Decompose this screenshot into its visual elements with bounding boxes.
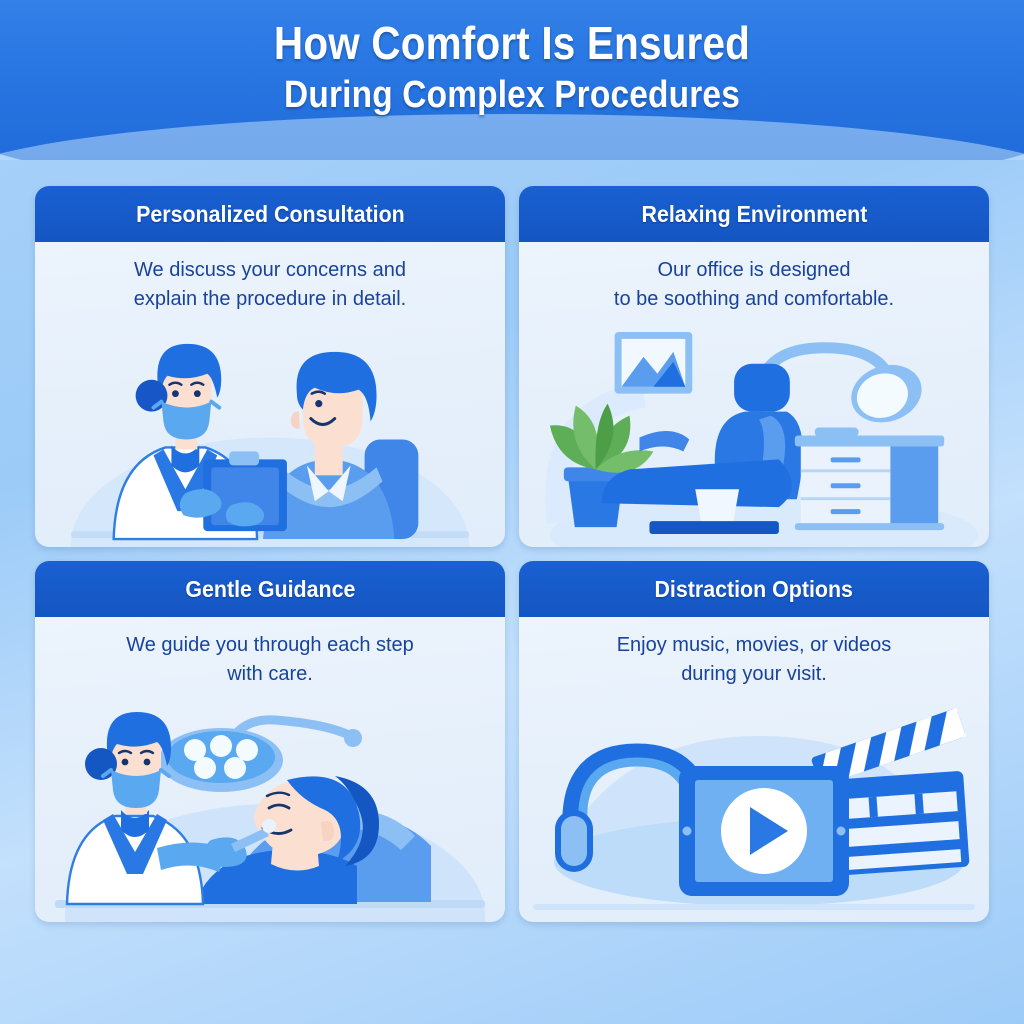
card-header-bar: Gentle Guidance: [35, 561, 505, 617]
card-description-line-2: explain the procedure in detail.: [53, 285, 487, 314]
card-description-line-2: with care.: [53, 660, 487, 689]
card-personalized-consultation[interactable]: Personalized Consultation We discuss you…: [35, 186, 505, 547]
card-header-bar: Personalized Consultation: [35, 186, 505, 242]
card-description-line-2: during your visit.: [537, 660, 971, 689]
card-distraction-options[interactable]: Distraction Options Enjoy music, movies,…: [519, 561, 989, 922]
card-description-line-1: We guide you through each step: [53, 631, 487, 660]
card-description: Enjoy music, movies, or videos during yo…: [519, 617, 989, 693]
gentle-treatment-illustration: [35, 693, 505, 922]
card-description-line-1: Our office is designed: [537, 256, 971, 285]
card-gentle-guidance[interactable]: Gentle Guidance We guide you through eac…: [35, 561, 505, 922]
card-title: Personalized Consultation: [136, 201, 405, 228]
entertainment-illustration: [519, 693, 989, 922]
title-line-primary: How Comfort Is Ensured: [61, 16, 962, 70]
page-title: How Comfort Is Ensured During Complex Pr…: [0, 16, 1024, 120]
card-header-bar: Relaxing Environment: [519, 186, 989, 242]
card-title: Gentle Guidance: [185, 576, 355, 603]
feature-card-grid: Personalized Consultation We discuss you…: [35, 186, 989, 922]
card-description: We guide you through each step with care…: [35, 617, 505, 693]
card-title: Relaxing Environment: [641, 201, 867, 228]
card-description-line-1: We discuss your concerns and: [53, 256, 487, 285]
card-description-line-1: Enjoy music, movies, or videos: [537, 631, 971, 660]
title-line-secondary: During Complex Procedures: [61, 70, 962, 120]
card-title: Distraction Options: [655, 576, 853, 603]
card-description: Our office is designed to be soothing an…: [519, 242, 989, 318]
consultation-illustration: [35, 318, 505, 547]
card-relaxing-environment[interactable]: Relaxing Environment Our office is desig…: [519, 186, 989, 547]
card-description: We discuss your concerns and explain the…: [35, 242, 505, 318]
card-header-bar: Distraction Options: [519, 561, 989, 617]
card-description-line-2: to be soothing and comfortable.: [537, 285, 971, 314]
operatory-illustration: [519, 318, 989, 547]
